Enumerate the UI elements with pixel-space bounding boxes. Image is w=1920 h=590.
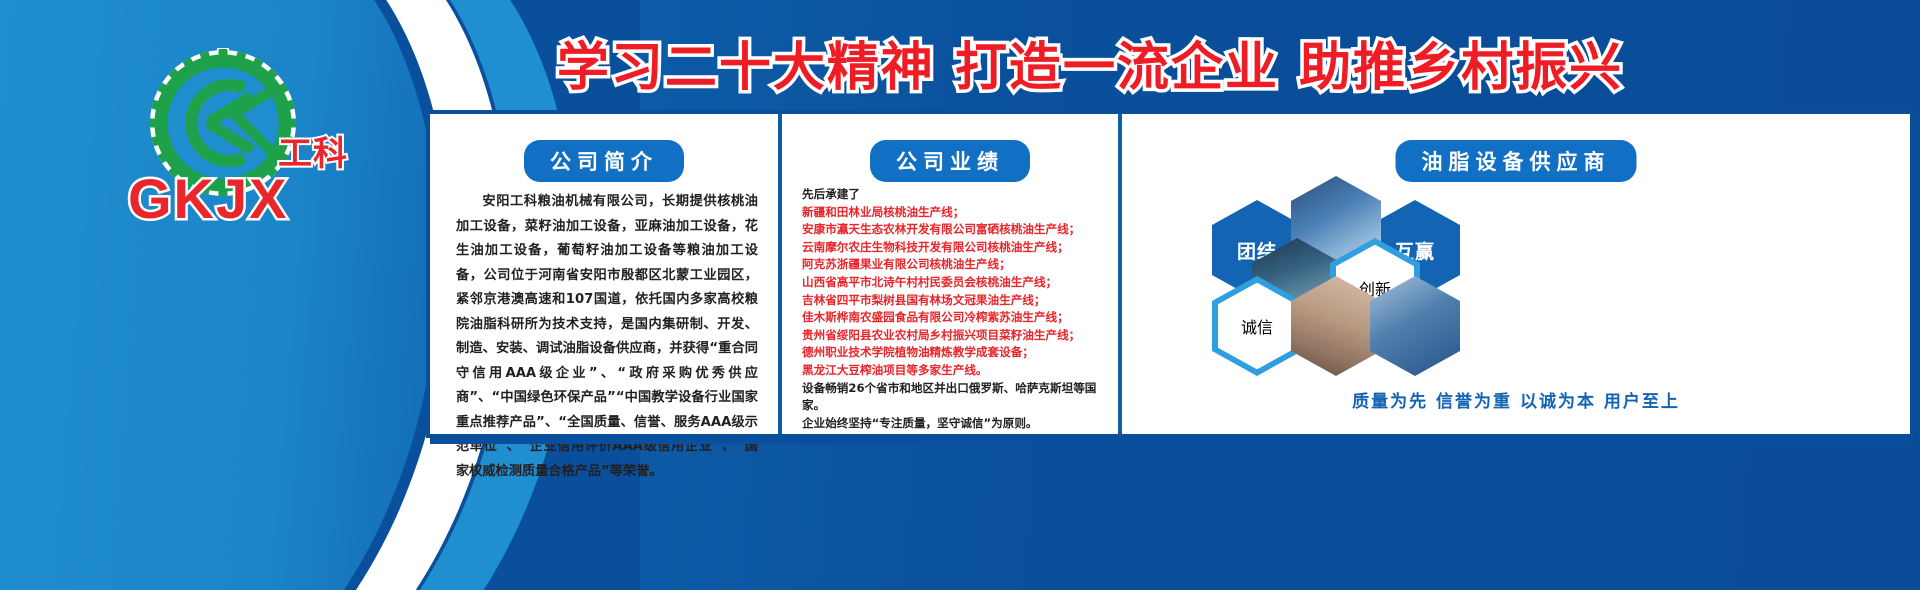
performance-item: 阿克苏浙疆果业有限公司核桃油生产线； — [802, 256, 1104, 274]
panels-underbar — [430, 434, 1910, 444]
performance-item: 佳木斯桦南农盛园食品有限公司冷榨紫苏油生产线； — [802, 309, 1104, 327]
panel-supplier: 油脂设备供应商 团结 互赢 创新 — [1118, 114, 1910, 434]
poster-headline: 学习二十大精神 打造一流企业 助推乡村振兴 — [500, 25, 1680, 100]
performance-item: 德州职业技术学院植物油精炼教学成套设备； — [802, 344, 1104, 362]
supplier-slogan: 质量为先 信誉为重 以诚为本 用户至上 — [1122, 387, 1910, 412]
hex-integrity-label: 诚信 — [1241, 314, 1273, 338]
performance-lead: 先后承建了 — [802, 186, 1104, 204]
performance-tail-line: 设备畅销26个省市和地区并出口俄罗斯、哈萨克斯坦等国家。 — [802, 380, 1104, 415]
logo-latin-text: GKJX — [128, 166, 289, 231]
panel-title-company-profile: 公司简介 — [524, 140, 684, 182]
content-panels: 公司简介 安阳工科粮油机械有限公司，长期提供核桃油加工设备，菜籽油加工设备，亚麻… — [430, 114, 1910, 434]
panel-company-profile: 公司简介 安阳工科粮油机械有限公司，长期提供核桃油加工设备，菜籽油加工设备，亚麻… — [430, 114, 778, 434]
performance-item: 吉林省四平市梨树县国有林场文冠果油生产线； — [802, 292, 1104, 310]
panel-company-performance: 公司业绩 先后承建了 新疆和田林业局核桃油生产线；安康市瀛天生态农林开发有限公司… — [778, 114, 1118, 434]
performance-list: 新疆和田林业局核桃油生产线；安康市瀛天生态农林开发有限公司富硒核桃油生产线；云南… — [802, 204, 1104, 380]
poster-canvas: 工科 GKJX 学习二十大精神 打造一流企业 助推乡村振兴 公司简介 安阳工科粮… — [0, 0, 1920, 590]
hexagon-graphic: 团结 互赢 创新 诚信 — [1122, 176, 1910, 366]
performance-item: 黑龙江大豆榨油项目等多家生产线。 — [802, 362, 1104, 380]
performance-item: 新疆和田林业局核桃油生产线； — [802, 204, 1104, 222]
panel-title-company-performance: 公司业绩 — [870, 140, 1030, 182]
performance-item: 云南摩尔农庄生物科技开发有限公司核桃油生产线； — [802, 239, 1104, 257]
performance-tail: 设备畅销26个省市和地区并出口俄罗斯、哈萨克斯坦等国家。企业始终坚持“专注质量，… — [802, 380, 1104, 433]
performance-item: 贵州省绥阳县农业农村局乡村振兴项目菜籽油生产线； — [802, 327, 1104, 345]
performance-tail-line: 企业始终坚持“专注质量，坚守诚信”为原则。 — [802, 415, 1104, 433]
brand-logo: 工科 GKJX — [120, 48, 350, 238]
performance-item: 山西省高平市北诗午村村民委员会核桃油生产线； — [802, 274, 1104, 292]
performance-item: 安康市瀛天生态农林开发有限公司富硒核桃油生产线； — [802, 221, 1104, 239]
company-performance-body: 先后承建了 新疆和田林业局核桃油生产线；安康市瀛天生态农林开发有限公司富硒核桃油… — [802, 186, 1104, 432]
